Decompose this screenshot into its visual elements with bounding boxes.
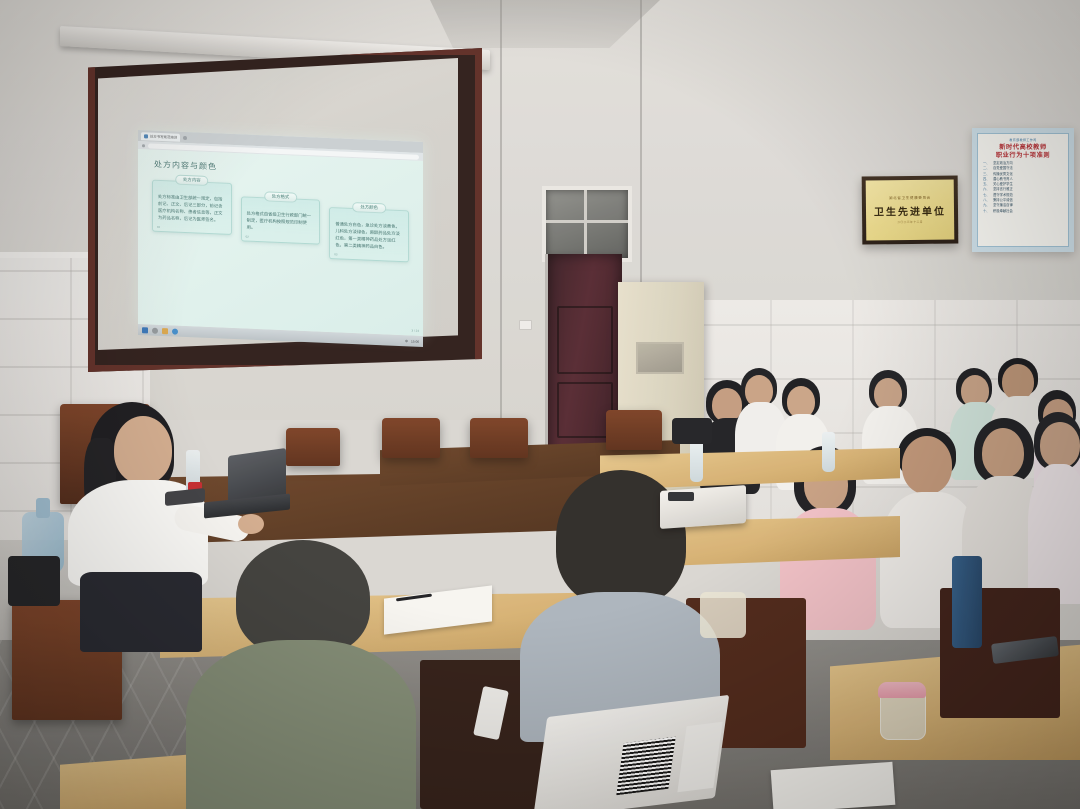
browser-tab[interactable]: 处方书写规范培训 — [141, 132, 180, 142]
taskbar-clock: 15:06 — [411, 339, 419, 343]
poster-item: 九、坚守廉洁自律 — [983, 204, 1063, 208]
poster-item-number: 一、 — [983, 162, 990, 166]
chair[interactable] — [470, 418, 528, 458]
poster-item-number: 四、 — [983, 178, 990, 182]
slide-card-body: 处方格式由省级卫生行政部门统一制定，医疗机构按照规范印制使用。 — [247, 211, 315, 235]
chair[interactable] — [606, 410, 662, 450]
chair[interactable] — [382, 418, 440, 458]
slide-card: 处方颜色 普通处方白色，急诊处方淡黄色，儿科处方淡绿色，麻醉药品处方淡红色，第一… — [329, 207, 409, 263]
slide-card-footnote: 02 — [246, 235, 249, 239]
document-sheet — [771, 762, 896, 809]
handbag — [672, 418, 712, 444]
slide-card: 处方格式 处方格式由省级卫生行政部门统一制定，医疗机构按照规范印制使用。 02 — [241, 196, 321, 245]
audience-person — [186, 540, 416, 809]
slide-card-group: 处方内容 处方标准由卫生部统一规定，包括前记、正文、后记三部分，前记含医疗机构名… — [152, 180, 409, 263]
folder-icon[interactable] — [162, 328, 168, 334]
ime-indicator[interactable]: 中 — [405, 338, 408, 343]
browser-tab-title: 处方书写规范培训 — [150, 134, 177, 140]
projected-browser-window[interactable]: 处方书写规范培训 处方内容与颜色 处方内容 处方标准由卫生部统一规定，包括前记、… — [138, 130, 423, 336]
plaque-main-text: 卫生先进单位 — [874, 203, 946, 219]
poster-item: 十、积极奉献社会 — [983, 210, 1063, 214]
slide-card-footnote: 03 — [334, 253, 337, 257]
poster-item-text: 传播优秀文化 — [993, 173, 1013, 177]
chair[interactable] — [286, 428, 340, 466]
jar-lid — [878, 682, 926, 698]
slide-card-body: 普通处方白色，急诊处方淡黄色，儿科处方淡绿色，麻醉药品处方淡红色，第一类精神药品… — [335, 221, 403, 252]
light-switch[interactable] — [519, 320, 532, 330]
plaque-subtitle: 湖北省卫生健康委员会 — [889, 196, 931, 201]
poster-item-number: 三、 — [983, 173, 990, 177]
poster-heading-line2: 职业行为十项准则 — [983, 152, 1063, 160]
slide-card: 处方内容 处方标准由卫生部统一规定，包括前记、正文、后记三部分，前记含医疗机构名… — [152, 180, 232, 236]
snack-bag — [700, 592, 746, 638]
wall-corner-left — [500, 0, 502, 420]
poster-item-text: 坚持言行雅正 — [993, 188, 1013, 192]
poster-item-text: 自觉爱国守法 — [993, 167, 1013, 171]
door-transom-window — [542, 186, 632, 262]
classroom-scene: 处方书写规范培训 处方内容与颜色 处方内容 处方标准由卫生部统一规定，包括前记、… — [0, 0, 1080, 809]
qr-code — [616, 737, 675, 795]
conduct-guidelines-poster: 教育部教师工作司 新时代高校教师 职业行为十项准则 一、坚定政治方向 二、自觉爱… — [972, 128, 1074, 252]
browser-icon[interactable] — [172, 328, 178, 334]
poster-item-text: 遵守学术规范 — [993, 194, 1013, 198]
water-bottle[interactable] — [822, 432, 835, 472]
poster-item: 二、自觉爱国守法 — [983, 167, 1063, 171]
start-icon[interactable] — [142, 327, 148, 333]
poster-item-text: 积极奉献社会 — [993, 210, 1013, 214]
water-jug-neck — [36, 498, 50, 518]
bag — [8, 556, 60, 606]
water-bottle[interactable] — [690, 440, 703, 482]
honor-plaque: 湖北省卫生健康委员会 卫生先进单位 二〇二三年十二月 — [862, 175, 959, 244]
poster-item: 三、传播优秀文化 — [983, 173, 1063, 177]
new-tab-icon[interactable] — [183, 135, 187, 139]
presenter-hand — [238, 514, 264, 534]
poster-heading-line1: 新时代高校教师 — [983, 144, 1063, 152]
slide-card-tab-label: 处方格式 — [264, 191, 298, 202]
poster-item-number: 六、 — [983, 188, 990, 192]
page-icon — [144, 134, 148, 138]
search-icon[interactable] — [152, 327, 158, 333]
back-icon[interactable] — [142, 144, 145, 147]
slide-page-indicator: 3 / 24 — [411, 328, 419, 332]
slide-card-tab-label: 处方内容 — [175, 175, 209, 186]
thermos-flask[interactable] — [952, 556, 982, 648]
poster-item: 七、遵守学术规范 — [983, 194, 1063, 198]
poster-item-number: 七、 — [983, 194, 990, 198]
projector-vent — [668, 492, 694, 501]
poster-item-number: 九、 — [983, 204, 990, 208]
poster-item-number: 二、 — [983, 167, 990, 171]
audience-person — [1028, 412, 1080, 602]
slide-card-footnote: 01 — [157, 225, 160, 229]
slide-card-tab-label: 处方颜色 — [352, 202, 386, 213]
slide-card-body: 处方标准由卫生部统一规定，包括前记、正文、后记三部分，前记含医疗机构名称、患者信… — [158, 194, 226, 225]
slide-canvas: 处方内容与颜色 处方内容 处方标准由卫生部统一规定，包括前记、正文、后记三部分，… — [138, 149, 423, 336]
plaque-footer: 二〇二三年十二月 — [897, 220, 923, 224]
poster-organization: 教育部教师工作司 — [983, 138, 1063, 142]
slide-title: 处方内容与颜色 — [154, 159, 217, 173]
poster-item: 六、坚持言行雅正 — [983, 188, 1063, 192]
poster-item-text: 坚守廉洁自律 — [993, 204, 1013, 208]
door-window — [636, 342, 684, 374]
poster-item-number: 十、 — [983, 210, 990, 214]
